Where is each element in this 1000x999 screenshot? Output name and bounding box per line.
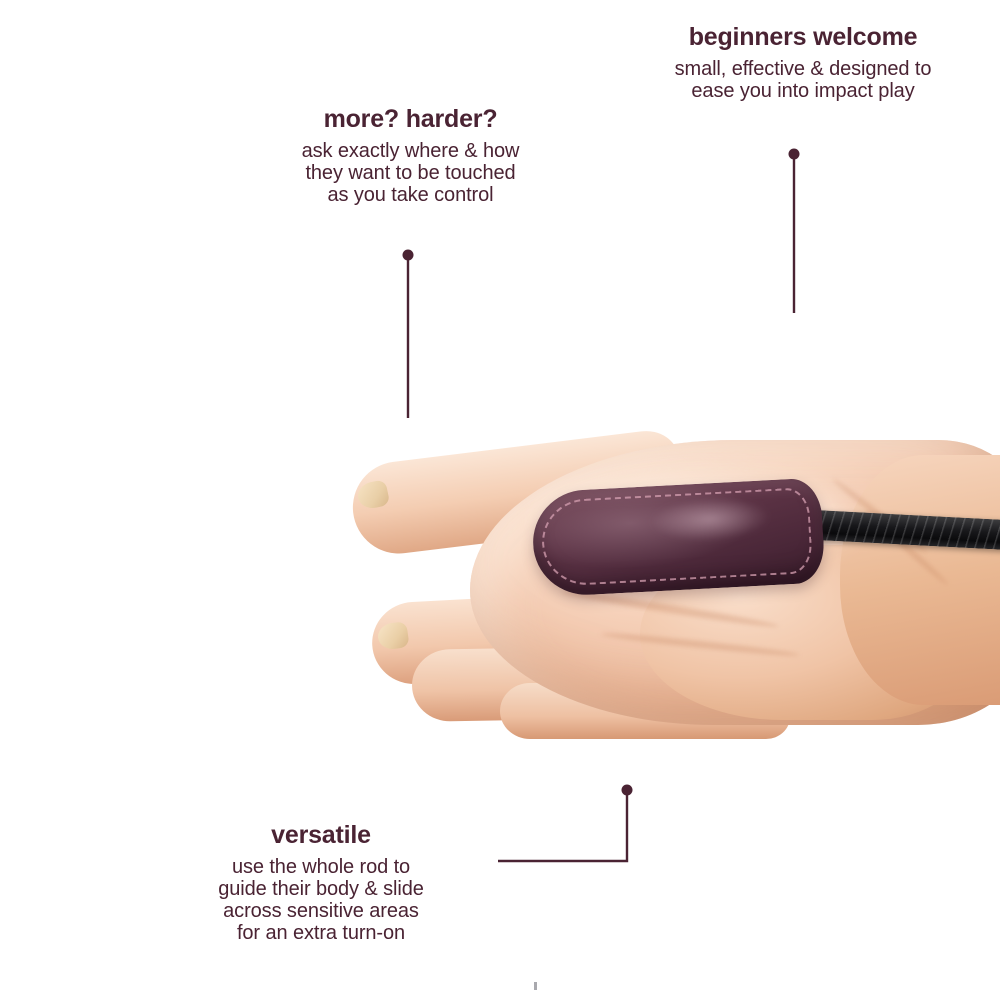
- callout-body-line: ease you into impact play: [608, 80, 998, 102]
- callout-versatile: versatile use the whole rod to guide the…: [165, 820, 477, 944]
- callout-body-line: they want to be touched: [243, 162, 578, 184]
- callout-body-versatile: use the whole rod to guide their body & …: [165, 856, 477, 944]
- leader-line-versatile: [498, 790, 627, 861]
- callout-title-versatile: versatile: [165, 820, 477, 850]
- callout-body-line: for an extra turn-on: [165, 922, 477, 944]
- callout-body-line: guide their body & slide: [165, 878, 477, 900]
- leader-dot-beginners: [789, 149, 800, 160]
- callout-more-harder: more? harder? ask exactly where & how th…: [243, 104, 578, 206]
- callout-title-more: more? harder?: [243, 104, 578, 134]
- callout-body-more: ask exactly where & how they want to be …: [243, 140, 578, 206]
- callout-title-beginners: beginners welcome: [608, 22, 998, 52]
- leather-crop-tip: [530, 477, 825, 597]
- callout-body-beginners: small, effective & designed to ease you …: [608, 58, 998, 102]
- bottom-artifact-mark: [534, 982, 537, 990]
- callout-body-line: across sensitive areas: [165, 900, 477, 922]
- product-photo: [0, 395, 1000, 785]
- callout-body-line: as you take control: [243, 184, 578, 206]
- callout-body-line: use the whole rod to: [165, 856, 477, 878]
- callout-body-line: ask exactly where & how: [243, 140, 578, 162]
- callout-beginners-welcome: beginners welcome small, effective & des…: [608, 22, 998, 102]
- wrist: [840, 455, 1000, 705]
- infographic-canvas: beginners welcome small, effective & des…: [0, 0, 1000, 999]
- leader-dot-versatile: [622, 785, 633, 796]
- callout-body-line: small, effective & designed to: [608, 58, 998, 80]
- leader-dot-more: [403, 250, 414, 261]
